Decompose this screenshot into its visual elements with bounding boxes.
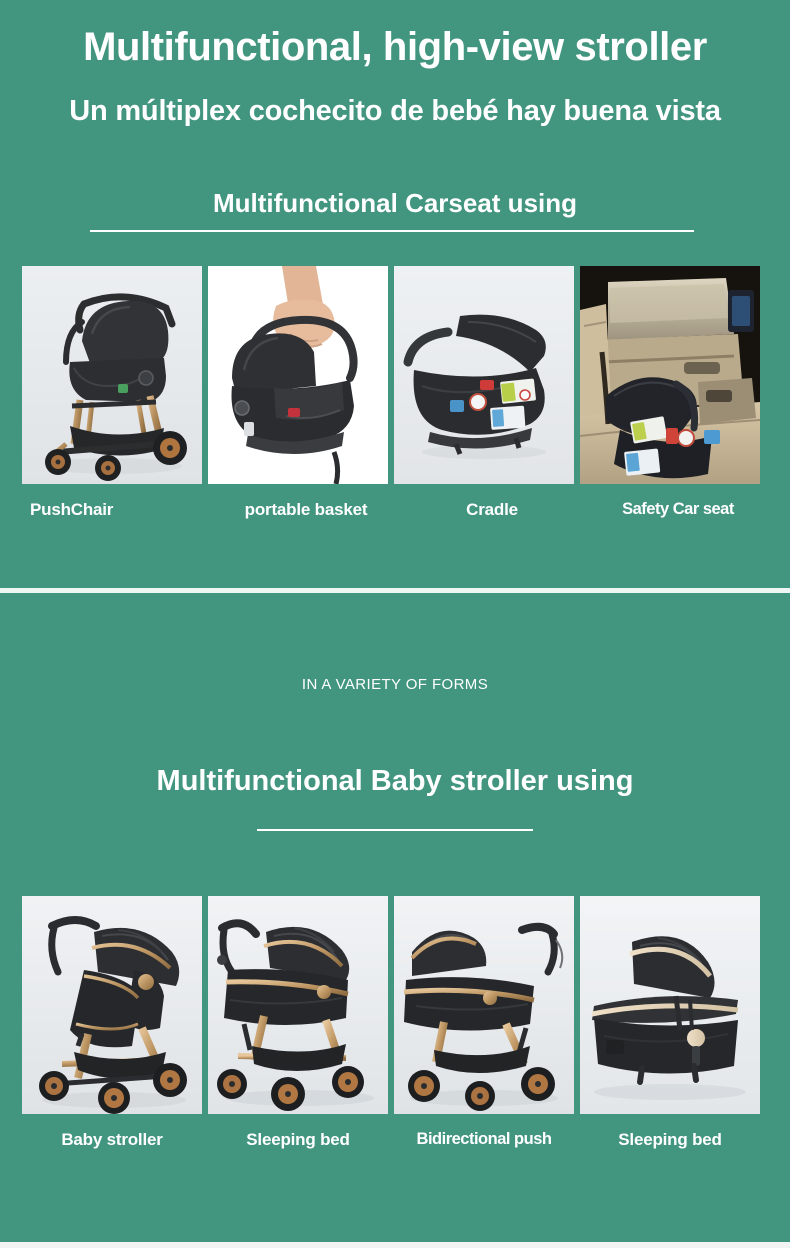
product-image-tile[interactable] [394, 266, 574, 484]
stroller-section-heading: Multifunctional Baby stroller using [0, 765, 790, 798]
stroller-heading-rule [257, 829, 533, 831]
stroller-sleeping-bed-photo [208, 896, 388, 1114]
variety-eyebrow-text: IN A VARIETY OF FORMS [0, 676, 790, 693]
stroller-caption-row: Baby stroller Sleeping bed Bidirectional… [22, 1130, 770, 1150]
product-listing-page: Multifunctional, high-view stroller Un m… [0, 0, 790, 1248]
product-image-tile[interactable] [580, 266, 760, 484]
hand-carrying-infant-carrier-photo [208, 266, 388, 484]
product-image-tile[interactable] [580, 896, 760, 1114]
product-caption: Cradle [402, 500, 582, 520]
product-image-tile[interactable] [22, 896, 202, 1114]
page-bottom-edge [0, 1242, 790, 1248]
product-image-tile[interactable] [208, 896, 388, 1114]
product-image-tile[interactable] [22, 266, 202, 484]
carseat-installed-in-car-photo [580, 266, 760, 484]
baby-stroller-upright-photo [22, 896, 202, 1114]
carseat-caption-row: PushChair portable basket Cradle Safety … [22, 500, 770, 520]
carseat-heading-rule [90, 230, 694, 232]
product-caption: Sleeping bed [208, 1130, 388, 1150]
stroller-image-grid [22, 896, 770, 1114]
product-caption: Bidirectional push [394, 1130, 574, 1150]
page-subtitle: Un múltiplex cochecito de bebé hay buena… [0, 96, 790, 128]
carseat-image-grid [22, 266, 770, 484]
product-caption: Baby stroller [22, 1130, 202, 1150]
product-image-tile[interactable] [208, 266, 388, 484]
section-divider [0, 588, 790, 593]
detached-bassinet-photo [580, 896, 760, 1114]
product-caption: Sleeping bed [580, 1130, 760, 1150]
product-image-tile[interactable] [394, 896, 574, 1114]
product-caption: PushChair [22, 500, 210, 520]
page-title: Multifunctional, high-view stroller [0, 26, 790, 68]
stroller-bidirectional-push-photo [394, 896, 574, 1114]
product-caption: Safety Car seat [588, 500, 768, 520]
product-caption: portable basket [216, 500, 396, 520]
cradle-carseat-photo [394, 266, 574, 484]
carseat-section-heading: Multifunctional Carseat using [0, 188, 790, 219]
stroller-with-carseat-photo [22, 266, 202, 484]
